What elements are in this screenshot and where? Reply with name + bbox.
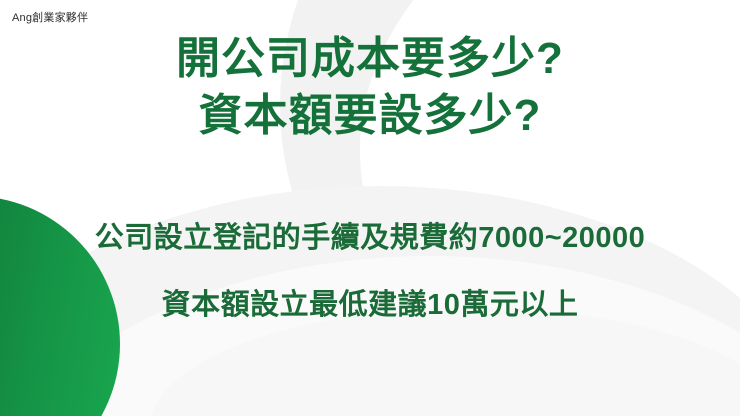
body-line-2: 資本額設立最低建議10萬元以上	[0, 286, 740, 325]
brand-logo-text: Ang創業家夥伴	[12, 11, 88, 25]
body-text-block: 公司設立登記的手續及規費約7000~20000 資本額設立最低建議10萬元以上	[0, 219, 740, 325]
headline-line-2: 資本額要設多少?	[0, 87, 740, 144]
headline-block: 開公司成本要多少? 資本額要設多少?	[0, 30, 740, 144]
slide-canvas: Ang創業家夥伴 開公司成本要多少? 資本額要設多少? 公司設立登記的手續及規費…	[0, 0, 740, 416]
headline-line-1: 開公司成本要多少?	[0, 30, 740, 87]
body-line-1: 公司設立登記的手續及規費約7000~20000	[0, 219, 740, 258]
